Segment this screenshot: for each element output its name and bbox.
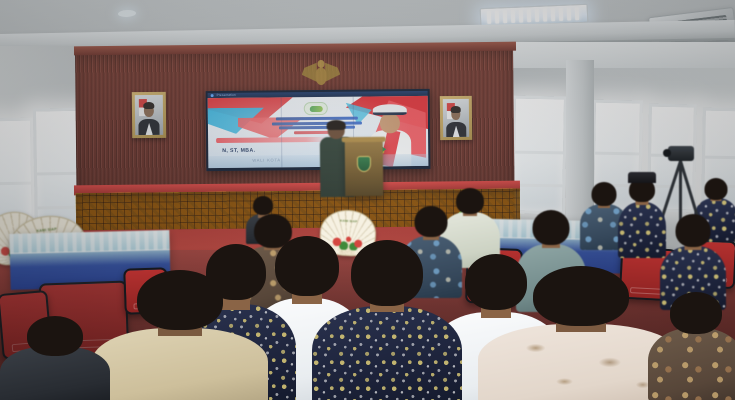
attendee-head	[676, 214, 711, 247]
attendee-torso	[618, 202, 666, 258]
seminar-hall-photo: Presentation N, ST, MBA. WALI KOTA	[0, 0, 735, 400]
attendee-head	[351, 240, 423, 306]
slide-footer-band	[208, 154, 428, 168]
projection-screen: Presentation N, ST, MBA. WALI KOTA	[206, 89, 431, 171]
video-camera-icon	[668, 146, 694, 161]
slide-speaker-name: N, ST, MBA.	[222, 148, 255, 154]
peci-cap-icon	[628, 172, 656, 183]
attendee-head	[533, 210, 570, 245]
list-item	[312, 240, 462, 400]
wooden-podium	[345, 140, 384, 196]
portrait-president-frame	[132, 92, 166, 138]
attendee-head	[705, 178, 728, 200]
attendee-torso	[312, 306, 462, 400]
attendee-head	[137, 270, 223, 330]
attendee-head	[592, 182, 617, 206]
presentation-toolbar-label: Presentation	[217, 93, 236, 97]
garuda-pancasila-emblem-icon	[300, 58, 342, 92]
list-item	[618, 172, 666, 256]
slide-pink-band	[216, 137, 328, 143]
toolbar-dot-icon	[211, 94, 214, 97]
attendee-head	[533, 266, 629, 326]
portrait-vice-president-frame	[440, 96, 472, 140]
attendee-head	[27, 316, 83, 356]
attendee-torso	[648, 328, 735, 400]
podium-crest-icon	[357, 156, 371, 172]
attendee-torso	[92, 328, 268, 400]
slide-logo-icon	[304, 102, 328, 115]
list-item	[92, 270, 268, 400]
list-item	[0, 316, 110, 400]
list-item	[648, 292, 735, 400]
slide-content: N, ST, MBA. WALI KOTA	[208, 96, 429, 168]
attendee-head	[415, 206, 448, 237]
right-wall-header-band	[505, 42, 735, 68]
attendee-head	[670, 292, 722, 334]
